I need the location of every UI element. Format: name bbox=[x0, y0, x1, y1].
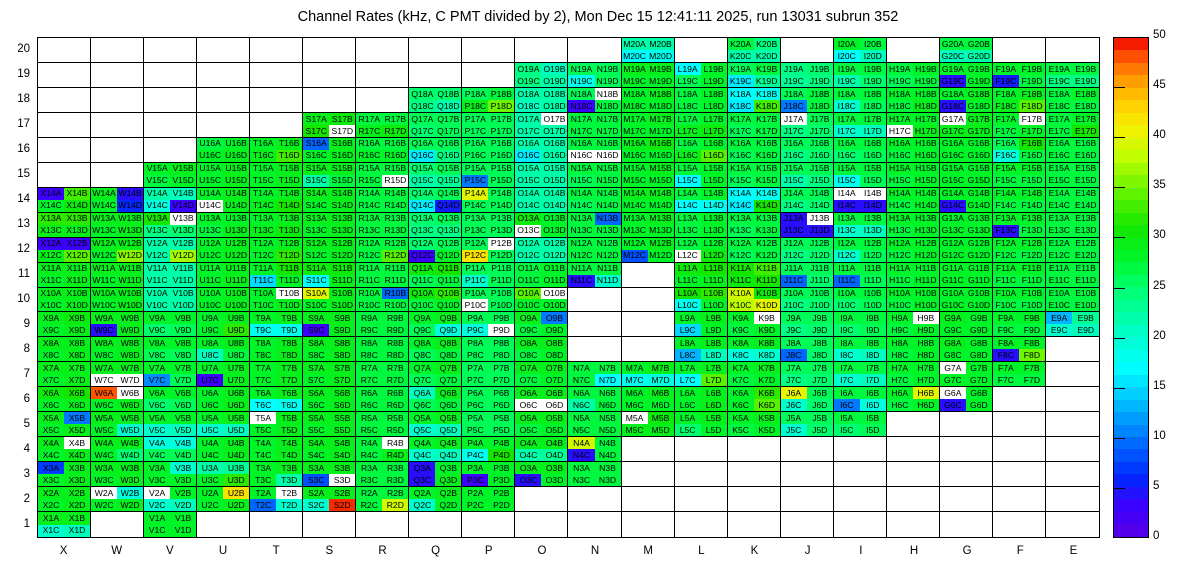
channel-J7D: J7D bbox=[807, 374, 833, 386]
channel-M15A: M15A bbox=[622, 163, 648, 175]
channel-R12B: R12B bbox=[382, 238, 408, 250]
heatmap-cell-S20 bbox=[303, 38, 356, 63]
heatmap-cell-M18: M18AM18BM18CM18D bbox=[622, 88, 675, 113]
channel-O18C: O18C bbox=[515, 100, 541, 112]
channel-I8A: I8A bbox=[834, 337, 860, 349]
heatmap-cell-E20 bbox=[1046, 38, 1099, 63]
channel-J7A: J7A bbox=[781, 362, 807, 374]
channel-G9C: G9C bbox=[940, 324, 966, 336]
channel-empty bbox=[462, 512, 488, 524]
heatmap-cell-W14: W14AW14BW14CW14D bbox=[91, 188, 144, 213]
y-axis-label-15: 15 bbox=[0, 168, 30, 180]
channel-W8C: W8C bbox=[91, 349, 117, 361]
channel-empty bbox=[595, 288, 621, 300]
channel-Q17D: Q17D bbox=[435, 125, 461, 137]
channel-L17B: L17B bbox=[701, 113, 727, 125]
heatmap-cell-K2 bbox=[728, 487, 781, 512]
channel-E13C: E13C bbox=[1046, 225, 1073, 237]
channel-R8C: R8C bbox=[356, 349, 382, 361]
channel-L11D: L11D bbox=[701, 275, 727, 287]
channel-G17C: G17C bbox=[940, 125, 966, 137]
channel-empty bbox=[807, 462, 833, 474]
channel-R3B: R3B bbox=[382, 462, 408, 474]
channel-empty bbox=[435, 38, 461, 50]
channel-V13B: V13B bbox=[170, 213, 196, 225]
channel-K11B: K11B bbox=[754, 263, 780, 275]
channel-empty bbox=[435, 63, 461, 75]
channel-H15D: H15D bbox=[913, 175, 939, 187]
channel-empty bbox=[595, 38, 621, 50]
heatmap-cell-K6: K6AK6BK6CK6D bbox=[728, 387, 781, 412]
heatmap-cell-G16: G16AG16BG16CG16D bbox=[940, 138, 993, 163]
channel-O18D: O18D bbox=[541, 100, 567, 112]
channel-empty bbox=[382, 88, 408, 100]
channel-Q12D: Q12D bbox=[435, 250, 461, 262]
channel-S2B: S2B bbox=[329, 487, 355, 499]
heatmap-cell-T1 bbox=[250, 512, 303, 537]
channel-empty bbox=[993, 387, 1019, 399]
heatmap-grid: M20AM20BM20CM20DK20AK20BK20CK20DI20AI20B… bbox=[38, 38, 1099, 537]
channel-T6A: T6A bbox=[250, 387, 276, 399]
heatmap-cell-G2 bbox=[940, 487, 993, 512]
channel-empty bbox=[568, 512, 594, 524]
heatmap-cell-R13: R13AR13BR13CR13D bbox=[356, 213, 409, 238]
channel-empty bbox=[488, 63, 514, 75]
y-axis-label-3: 3 bbox=[0, 468, 30, 480]
channel-K8C: K8C bbox=[728, 349, 754, 361]
channel-empty bbox=[1019, 424, 1045, 436]
channel-U10D: U10D bbox=[223, 299, 249, 311]
channel-empty bbox=[488, 38, 514, 50]
channel-O4C: O4C bbox=[515, 449, 541, 461]
channel-empty bbox=[329, 512, 355, 524]
channel-empty bbox=[648, 474, 674, 486]
channel-empty bbox=[117, 525, 143, 537]
heatmap-cell-U16: U16AU16BU16CU16D bbox=[197, 138, 250, 163]
channel-empty bbox=[1046, 424, 1073, 436]
channel-I15C: I15C bbox=[834, 175, 860, 187]
heatmap-cell-O14: O14AO14BO14CO14D bbox=[515, 188, 568, 213]
heatmap-cell-N14: N14AN14BN14CN14D bbox=[568, 188, 621, 213]
channel-empty bbox=[197, 113, 223, 125]
channel-empty bbox=[223, 88, 249, 100]
heatmap-cell-H11: H11AH11BH11CH11D bbox=[887, 263, 940, 288]
channel-P10C: P10C bbox=[462, 299, 488, 311]
channel-U8B: U8B bbox=[223, 337, 249, 349]
channel-P3D: P3D bbox=[488, 474, 514, 486]
heatmap-cell-S10: S10AS10BS10CS10D bbox=[303, 288, 356, 313]
channel-X10C: X10C bbox=[38, 299, 64, 311]
channel-F14C: F14C bbox=[993, 200, 1019, 212]
channel-E9B: E9B bbox=[1072, 312, 1099, 324]
channel-I19D: I19D bbox=[860, 75, 886, 87]
channel-Q13C: Q13C bbox=[409, 225, 435, 237]
channel-S9D: S9D bbox=[329, 324, 355, 336]
heatmap-cell-U9: U9AU9BU9CU9D bbox=[197, 312, 250, 337]
channel-V8D: V8D bbox=[170, 349, 196, 361]
channel-W8A: W8A bbox=[91, 337, 117, 349]
channel-empty bbox=[595, 487, 621, 499]
channel-empty bbox=[541, 512, 567, 524]
channel-empty bbox=[170, 113, 196, 125]
channel-Q14C: Q14C bbox=[409, 200, 435, 212]
channel-X11B: X11B bbox=[64, 263, 90, 275]
channel-T6B: T6B bbox=[276, 387, 302, 399]
channel-Q15C: Q15C bbox=[409, 175, 435, 187]
heatmap-cell-H2 bbox=[887, 487, 940, 512]
channel-P14A: P14A bbox=[462, 188, 488, 200]
channel-K9D: K9D bbox=[754, 324, 780, 336]
channel-I14B: I14B bbox=[860, 188, 886, 200]
heatmap-cell-R8: R8AR8BR8CR8D bbox=[356, 337, 409, 362]
channel-L8A: L8A bbox=[675, 337, 701, 349]
channel-W6C: W6C bbox=[91, 399, 117, 411]
channel-P12B: P12B bbox=[488, 238, 514, 250]
channel-empty bbox=[356, 525, 382, 537]
channel-empty bbox=[1046, 512, 1073, 524]
channel-L12A: L12A bbox=[675, 238, 701, 250]
channel-I17C: I17C bbox=[834, 125, 860, 137]
channel-W14A: W14A bbox=[91, 188, 117, 200]
channel-empty bbox=[993, 525, 1019, 537]
heatmap-cell-O10: O10AO10BO10CO10D bbox=[515, 288, 568, 313]
channel-empty bbox=[223, 525, 249, 537]
heatmap-cell-Q7: Q7AQ7BQ7CQ7D bbox=[409, 362, 462, 387]
channel-empty bbox=[966, 462, 992, 474]
channel-empty bbox=[966, 412, 992, 424]
channel-P4C: P4C bbox=[462, 449, 488, 461]
channel-R12A: R12A bbox=[356, 238, 382, 250]
channel-W7C: W7C bbox=[91, 374, 117, 386]
heatmap-cell-T2: T2AT2BT2CT2D bbox=[250, 487, 303, 512]
channel-K14C: K14C bbox=[728, 200, 754, 212]
heatmap-cell-H7: H7AH7BH7CH7D bbox=[887, 362, 940, 387]
channel-empty bbox=[170, 125, 196, 137]
channel-U11A: U11A bbox=[197, 263, 223, 275]
channel-empty bbox=[1046, 499, 1073, 511]
channel-W8B: W8B bbox=[117, 337, 143, 349]
heatmap-cell-H6: H6AH6BH6CH6D bbox=[887, 387, 940, 412]
channel-I20B: I20B bbox=[860, 38, 886, 50]
channel-X8C: X8C bbox=[38, 349, 64, 361]
channel-empty bbox=[1046, 362, 1073, 374]
channel-S6C: S6C bbox=[303, 399, 329, 411]
heatmap-cell-H13: H13AH13BH13CH13D bbox=[887, 213, 940, 238]
channel-E10A: E10A bbox=[1046, 288, 1073, 300]
colorbar-tick bbox=[1113, 237, 1125, 238]
heatmap-cell-M8 bbox=[622, 337, 675, 362]
heatmap-cell-G6: G6AG6BG6CG6D bbox=[940, 387, 993, 412]
channel-R16C: R16C bbox=[356, 150, 382, 162]
colorbar-swatch bbox=[1114, 362, 1148, 374]
channel-X10D: X10D bbox=[64, 299, 90, 311]
channel-I7D: I7D bbox=[860, 374, 886, 386]
heatmap-cell-P17: P17AP17BP17CP17D bbox=[462, 113, 515, 138]
heatmap-cell-T19 bbox=[250, 63, 303, 88]
channel-O8B: O8B bbox=[541, 337, 567, 349]
heatmap-cell-M12: M12AM12BM12CM12D bbox=[622, 238, 675, 263]
channel-T8C: T8C bbox=[250, 349, 276, 361]
channel-W12D: W12D bbox=[117, 250, 143, 262]
channel-empty bbox=[276, 512, 302, 524]
channel-W7D: W7D bbox=[117, 374, 143, 386]
channel-empty bbox=[1072, 38, 1099, 50]
heatmap-cell-E15: E15AE15BE15CE15D bbox=[1046, 163, 1099, 188]
heatmap-cell-X5: X5AX5BX5CX5D bbox=[38, 412, 91, 437]
channel-O17D: O17D bbox=[541, 125, 567, 137]
heatmap-cell-X13: X13AX13BX13CX13D bbox=[38, 213, 91, 238]
channel-S16C: S16C bbox=[303, 150, 329, 162]
channel-M14C: M14C bbox=[622, 200, 648, 212]
channel-J13A: J13A bbox=[781, 213, 807, 225]
channel-W4A: W4A bbox=[91, 437, 117, 449]
channel-K20C: K20C bbox=[728, 50, 754, 62]
channel-K9B: K9B bbox=[754, 312, 780, 324]
heatmap-cell-K19: K19AK19BK19CK19D bbox=[728, 63, 781, 88]
channel-H19D: H19D bbox=[913, 75, 939, 87]
channel-S11C: S11C bbox=[303, 275, 329, 287]
channel-empty bbox=[91, 100, 117, 112]
channel-G8C: G8C bbox=[940, 349, 966, 361]
channel-empty bbox=[807, 449, 833, 461]
channel-W5C: W5C bbox=[91, 424, 117, 436]
channel-N17C: N17C bbox=[568, 125, 594, 137]
channel-L11B: L11B bbox=[701, 263, 727, 275]
channel-X4B: X4B bbox=[64, 437, 90, 449]
channel-empty bbox=[64, 100, 90, 112]
channel-L5D: L5D bbox=[701, 424, 727, 436]
channel-F19D: F19D bbox=[1019, 75, 1045, 87]
channel-empty bbox=[223, 113, 249, 125]
channel-V5D: V5D bbox=[170, 424, 196, 436]
channel-empty bbox=[250, 75, 276, 87]
y-axis-label-20: 20 bbox=[0, 43, 30, 55]
channel-S17C: S17C bbox=[303, 125, 329, 137]
channel-V1B: V1B bbox=[170, 512, 196, 524]
channel-empty bbox=[834, 499, 860, 511]
channel-empty bbox=[728, 499, 754, 511]
channel-J15B: J15B bbox=[807, 163, 833, 175]
channel-W3D: W3D bbox=[117, 474, 143, 486]
channel-P17A: P17A bbox=[462, 113, 488, 125]
channel-G10B: G10B bbox=[966, 288, 992, 300]
channel-S5B: S5B bbox=[329, 412, 355, 424]
channel-Q10A: Q10A bbox=[409, 288, 435, 300]
channel-P15B: P15B bbox=[488, 163, 514, 175]
channel-S17D: S17D bbox=[329, 125, 355, 137]
channel-V5C: V5C bbox=[144, 424, 170, 436]
channel-M6B: M6B bbox=[648, 387, 674, 399]
channel-F17A: F17A bbox=[993, 113, 1019, 125]
channel-V12A: V12A bbox=[144, 238, 170, 250]
heatmap-cell-N13: N13AN13BN13CN13D bbox=[568, 213, 621, 238]
channel-W4D: W4D bbox=[117, 449, 143, 461]
channel-U2C: U2C bbox=[197, 499, 223, 511]
channel-N4D: N4D bbox=[595, 449, 621, 461]
channel-empty bbox=[276, 100, 302, 112]
channel-L17A: L17A bbox=[675, 113, 701, 125]
channel-empty bbox=[303, 88, 329, 100]
channel-W12A: W12A bbox=[91, 238, 117, 250]
channel-empty bbox=[356, 100, 382, 112]
channel-K15A: K15A bbox=[728, 163, 754, 175]
heatmap-cell-X4: X4AX4BX4CX4D bbox=[38, 437, 91, 462]
channel-empty bbox=[250, 38, 276, 50]
channel-F9B: F9B bbox=[1019, 312, 1045, 324]
heatmap-cell-E3 bbox=[1046, 462, 1099, 487]
heatmap-cell-S17: S17AS17BS17CS17D bbox=[303, 113, 356, 138]
channel-I15D: I15D bbox=[860, 175, 886, 187]
heatmap-cell-U8: U8AU8BU8CU8D bbox=[197, 337, 250, 362]
heatmap-cell-K14: K14AK14BK14CK14D bbox=[728, 188, 781, 213]
channel-empty bbox=[329, 100, 355, 112]
channel-T10B: T10B bbox=[276, 288, 302, 300]
channel-Q2D: Q2D bbox=[435, 499, 461, 511]
channel-T11C: T11C bbox=[250, 275, 276, 287]
heatmap-cell-W3: W3AW3BW3CW3D bbox=[91, 462, 144, 487]
channel-X3D: X3D bbox=[64, 474, 90, 486]
channel-J18A: J18A bbox=[781, 88, 807, 100]
channel-U13B: U13B bbox=[223, 213, 249, 225]
channel-T13D: T13D bbox=[276, 225, 302, 237]
channel-Q5D: Q5D bbox=[435, 424, 461, 436]
channel-X1A: X1A bbox=[38, 512, 64, 524]
channel-P8A: P8A bbox=[462, 337, 488, 349]
channel-empty bbox=[940, 424, 966, 436]
heatmap-cell-R6: R6AR6BR6CR6D bbox=[356, 387, 409, 412]
channel-I5C: I5C bbox=[834, 424, 860, 436]
channel-N12C: N12C bbox=[568, 250, 594, 262]
channel-L7B: L7B bbox=[701, 362, 727, 374]
heatmap-cell-P9: P9AP9BP9CP9D bbox=[462, 312, 515, 337]
channel-Q6B: Q6B bbox=[435, 387, 461, 399]
channel-F14A: F14A bbox=[993, 188, 1019, 200]
channel-J9C: J9C bbox=[781, 324, 807, 336]
channel-O8C: O8C bbox=[515, 349, 541, 361]
channel-E18C: E18C bbox=[1046, 100, 1073, 112]
channel-L16A: L16A bbox=[675, 138, 701, 150]
channel-M15D: M15D bbox=[648, 175, 674, 187]
heatmap-cell-F15: F15AF15BF15CF15D bbox=[993, 163, 1046, 188]
channel-G16B: G16B bbox=[966, 138, 992, 150]
channel-L6D: L6D bbox=[701, 399, 727, 411]
channel-S7C: S7C bbox=[303, 374, 329, 386]
channel-U12A: U12A bbox=[197, 238, 223, 250]
heatmap-cell-J5: J5AJ5BJ5CJ5D bbox=[781, 412, 834, 437]
channel-L18D: L18D bbox=[701, 100, 727, 112]
channel-E12B: E12B bbox=[1072, 238, 1099, 250]
channel-O6A: O6A bbox=[515, 387, 541, 399]
channel-N14D: N14D bbox=[595, 200, 621, 212]
channel-empty bbox=[64, 125, 90, 137]
channel-Q14D: Q14D bbox=[435, 200, 461, 212]
heatmap-cell-X18 bbox=[38, 88, 91, 113]
channel-H11D: H11D bbox=[913, 275, 939, 287]
heatmap-cell-V1: V1AV1BV1CV1D bbox=[144, 512, 197, 537]
channel-W5B: W5B bbox=[117, 412, 143, 424]
channel-R13C: R13C bbox=[356, 225, 382, 237]
channel-O14C: O14C bbox=[515, 200, 541, 212]
channel-empty bbox=[382, 512, 408, 524]
channel-empty bbox=[329, 63, 355, 75]
channel-S10B: S10B bbox=[329, 288, 355, 300]
channel-M12A: M12A bbox=[622, 238, 648, 250]
channel-X14D: X14D bbox=[64, 200, 90, 212]
channel-empty bbox=[462, 525, 488, 537]
channel-P12C: P12C bbox=[462, 250, 488, 262]
channel-empty bbox=[144, 63, 170, 75]
heatmap-cell-K11: K11AK11BK11CK11D bbox=[728, 263, 781, 288]
channel-empty bbox=[913, 449, 939, 461]
channel-empty bbox=[834, 512, 860, 524]
channel-P11A: P11A bbox=[462, 263, 488, 275]
channel-P9B: P9B bbox=[488, 312, 514, 324]
channel-X6B: X6B bbox=[64, 387, 90, 399]
channel-empty bbox=[807, 487, 833, 499]
channel-E16D: E16D bbox=[1072, 150, 1099, 162]
channel-T8D: T8D bbox=[276, 349, 302, 361]
channel-empty bbox=[1072, 362, 1099, 374]
channel-S17B: S17B bbox=[329, 113, 355, 125]
channel-G8A: G8A bbox=[940, 337, 966, 349]
channel-empty bbox=[993, 437, 1019, 449]
channel-empty bbox=[356, 50, 382, 62]
channel-H6D: H6D bbox=[913, 399, 939, 411]
channel-empty bbox=[781, 499, 807, 511]
channel-I16B: I16B bbox=[860, 138, 886, 150]
channel-empty bbox=[568, 487, 594, 499]
channel-G7B: G7B bbox=[966, 362, 992, 374]
channel-V14D: V14D bbox=[170, 200, 196, 212]
heatmap-cell-F19: F19AF19BF19CF19D bbox=[993, 63, 1046, 88]
channel-M13B: M13B bbox=[648, 213, 674, 225]
channel-empty bbox=[887, 50, 913, 62]
channel-X12A: X12A bbox=[38, 238, 64, 250]
heatmap-cell-M3 bbox=[622, 462, 675, 487]
heatmap-cell-J18: J18AJ18BJ18CJ18D bbox=[781, 88, 834, 113]
y-axis-label-2: 2 bbox=[0, 493, 30, 505]
heatmap-cell-M14: M14AM14BM14CM14D bbox=[622, 188, 675, 213]
channel-E15D: E15D bbox=[1072, 175, 1099, 187]
channel-J8C: J8C bbox=[781, 349, 807, 361]
channel-empty bbox=[807, 50, 833, 62]
channel-H12C: H12C bbox=[887, 250, 913, 262]
channel-K15D: K15D bbox=[754, 175, 780, 187]
channel-P13B: P13B bbox=[488, 213, 514, 225]
heatmap-cell-T5: T5AT5BT5CT5D bbox=[250, 412, 303, 437]
channel-K14D: K14D bbox=[754, 200, 780, 212]
channel-G6D: G6D bbox=[966, 399, 992, 411]
channel-X11D: X11D bbox=[64, 275, 90, 287]
channel-empty bbox=[728, 449, 754, 461]
channel-R8B: R8B bbox=[382, 337, 408, 349]
channel-O7C: O7C bbox=[515, 374, 541, 386]
channel-R15A: R15A bbox=[356, 163, 382, 175]
channel-empty bbox=[329, 75, 355, 87]
heatmap-cell-J1 bbox=[781, 512, 834, 537]
channel-empty bbox=[223, 63, 249, 75]
channel-Q16C: Q16C bbox=[409, 150, 435, 162]
channel-T6D: T6D bbox=[276, 399, 302, 411]
channel-K12A: K12A bbox=[728, 238, 754, 250]
channel-F17C: F17C bbox=[993, 125, 1019, 137]
channel-empty bbox=[435, 75, 461, 87]
channel-empty bbox=[966, 474, 992, 486]
channel-empty bbox=[648, 288, 674, 300]
channel-empty bbox=[1046, 399, 1073, 411]
heatmap-cell-E18: E18AE18BE18CE18D bbox=[1046, 88, 1099, 113]
channel-T15D: T15D bbox=[276, 175, 302, 187]
